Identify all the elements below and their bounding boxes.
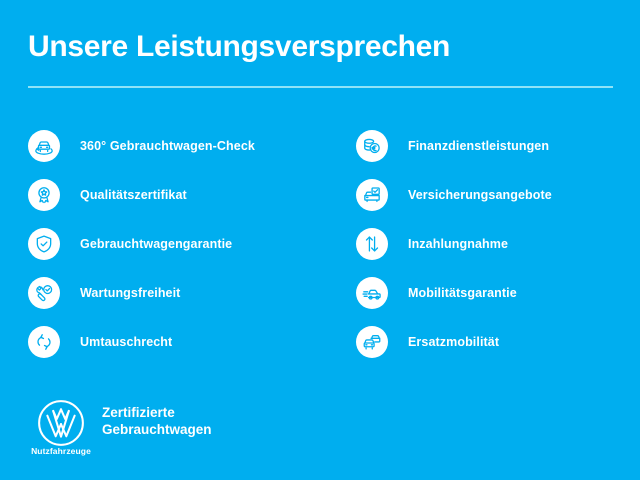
benefit-label: Ersatzmobilität	[408, 335, 499, 349]
award-rosette-icon	[28, 179, 60, 211]
benefit-label: 360° Gebrauchtwagen-Check	[80, 139, 255, 153]
car-motion-icon	[356, 277, 388, 309]
benefit-label: Inzahlungnahme	[408, 237, 508, 251]
benefit-item: Mobilitätsgarantie	[356, 268, 640, 317]
car-360-check-icon	[28, 130, 60, 162]
brand-claim: Zertifizierte Gebrauchtwagen	[102, 404, 212, 438]
brand-claim-line-1: Zertifizierte	[102, 404, 212, 421]
two-cars-icon	[356, 326, 388, 358]
benefit-item: 360° Gebrauchtwagen-Check	[28, 121, 318, 170]
benefit-item: Gebrauchtwagengarantie	[28, 219, 318, 268]
slide-root: Unsere Leistungsversprechen 360° Gebrauc…	[0, 0, 640, 480]
up-down-arrows-icon	[356, 228, 388, 260]
benefit-item: Wartungsfreiheit	[28, 268, 318, 317]
benefit-label: Finanzdienstleistungen	[408, 139, 549, 153]
benefit-item: Inzahlungnahme	[356, 219, 640, 268]
benefit-label: Qualitätszertifikat	[80, 188, 187, 202]
title-divider	[28, 86, 613, 88]
benefit-label: Versicherungsangebote	[408, 188, 552, 202]
benefit-item: Finanzdienstleistungen	[356, 121, 640, 170]
brand-claim-line-2: Gebrauchtwagen	[102, 421, 212, 438]
benefit-label: Gebrauchtwagengarantie	[80, 237, 232, 251]
benefit-item: Ersatzmobilität	[356, 317, 640, 366]
benefit-label: Mobilitätsgarantie	[408, 286, 517, 300]
benefit-label: Umtauschrecht	[80, 335, 172, 349]
shield-check-icon	[28, 228, 60, 260]
brand-subbrand-label: Nutzfahrzeuge	[28, 446, 94, 456]
benefits-column-left: 360° Gebrauchtwagen-Check Qualitätszerti…	[28, 121, 318, 366]
brand-block: Nutzfahrzeuge Zertifizierte Gebrauchtwag…	[28, 398, 348, 460]
benefit-item: Qualitätszertifikat	[28, 170, 318, 219]
page-title: Unsere Leistungsversprechen	[28, 28, 450, 66]
benefit-label: Wartungsfreiheit	[80, 286, 180, 300]
car-document-check-icon	[356, 179, 388, 211]
benefit-item: Umtauschrecht	[28, 317, 318, 366]
coins-euro-icon	[356, 130, 388, 162]
wrench-check-icon	[28, 277, 60, 309]
benefits-column-right: Finanzdienstleistungen Versicherungsange…	[356, 121, 640, 366]
benefits-section: 360° Gebrauchtwagen-Check Qualitätszerti…	[0, 121, 640, 361]
exchange-arrows-icon	[28, 326, 60, 358]
benefit-item: Versicherungsangebote	[356, 170, 640, 219]
